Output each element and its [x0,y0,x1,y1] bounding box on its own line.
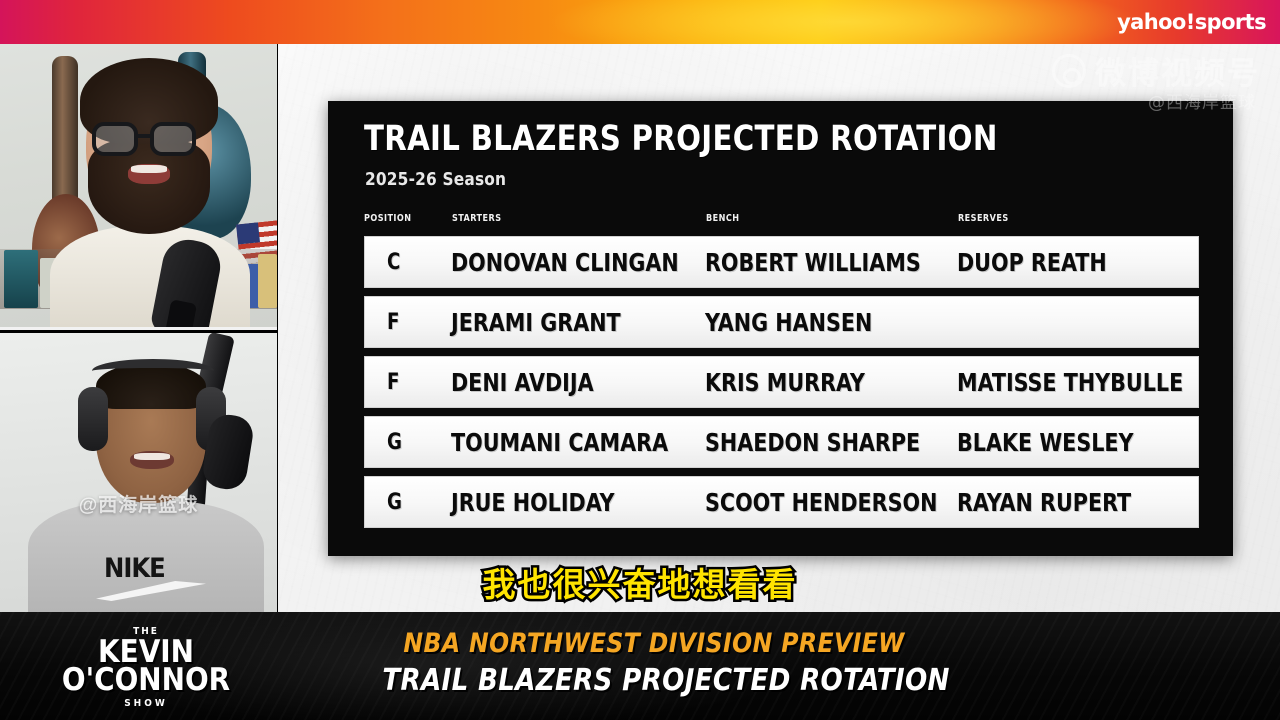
table-row: F DENI AVDIJA KRIS MURRAY MATISSE THYBUL… [364,356,1199,408]
weibo-account-handle: @西海岸篮球 [1148,88,1256,113]
season-subtitle: 2025-26 Season [365,169,506,190]
cell-bench: KRIS MURRAY [705,368,865,397]
cell-starter: JERAMI GRANT [451,308,621,337]
cell-position: G [387,430,402,455]
weibo-watermark: 微博视频号 [1052,48,1260,93]
cell-position: F [387,370,399,395]
cell-position: G [387,490,402,515]
banner-text-block: NBA NORTHWEST DIVISION PREVIEW TRAIL BLA… [374,628,934,698]
cell-starter: DENI AVDIJA [451,368,594,397]
cell-bench: SHAEDON SHARPE [705,428,920,457]
table-row: C DONOVAN CLINGAN ROBERT WILLIAMS DUOP R… [364,236,1199,288]
host-shirt [50,226,250,330]
yahoo-sports-logo: yahoo!sports [1117,10,1266,34]
banner-subhead: TRAIL BLAZERS PROJECTED ROTATION [382,663,925,698]
banner-headline: NBA NORTHWEST DIVISION PREVIEW [382,628,925,659]
host-mouth [128,164,170,184]
broadcast-frame: yahoo!sports TRAIL BLAZERS PROJECTED ROT… [0,0,1280,720]
eyeglasses-right-lens-icon [150,122,196,156]
table-row: F JERAMI GRANT YANG HANSEN [364,296,1199,348]
webcam-watermark: @西海岸篮球 [79,490,199,517]
rotation-graphic-panel: TRAIL BLAZERS PROJECTED ROTATION 2025-26… [328,101,1233,556]
column-header-position: POSITION [364,213,411,224]
cell-starter: JRUE HOLIDAY [451,488,615,517]
cell-starter: TOUMANI CAMARA [451,428,668,457]
eyeglasses-left-lens-icon [92,122,138,156]
cell-reserve: DUOP REATH [957,248,1107,277]
eyeglasses-bridge-icon [138,134,152,138]
cell-reserve: MATISSE THYBULLE [957,368,1183,397]
shelf-object [4,250,38,308]
caption-subtitle: 我也很兴奋地想看看 [0,558,1280,606]
cell-bench: ROBERT WILLIAMS [705,248,921,277]
show-logo-show: SHOW [124,698,168,709]
cell-position: C [387,250,400,275]
cell-bench: SCOOT HENDERSON [705,488,937,517]
show-logo-last: O'CONNOR [62,666,230,695]
lower-third-banner: THE KEVIN O'CONNOR SHOW NBA NORTHWEST DI… [0,612,1280,720]
column-header-starters: STARTERS [452,213,501,224]
cell-reserve: RAYAN RUPERT [957,488,1131,517]
show-logo: THE KEVIN O'CONNOR SHOW [56,620,236,716]
cell-bench: YANG HANSEN [705,308,872,337]
weibo-watermark-label: 微博视频号 [1095,48,1260,93]
table-row: G TOUMANI CAMARA SHAEDON SHARPE BLAKE WE… [364,416,1199,468]
cell-reserve: BLAKE WESLEY [957,428,1134,457]
rotation-table: C DONOVAN CLINGAN ROBERT WILLIAMS DUOP R… [364,236,1199,536]
headphone-left-cup-icon [78,387,108,451]
top-gradient-bar: yahoo!sports [0,0,1280,44]
webcam-host-top [0,44,277,330]
page-title: TRAIL BLAZERS PROJECTED ROTATION [364,119,998,159]
headphone-band-icon [92,359,214,383]
cell-starter: DONOVAN CLINGAN [451,248,679,277]
guest-mouth [130,451,174,469]
cell-position: F [387,310,399,335]
webcam-top-video [0,44,277,327]
table-row: G JRUE HOLIDAY SCOOT HENDERSON RAYAN RUP… [364,476,1199,528]
weibo-eye-icon [1052,54,1086,88]
column-header-bench: BENCH [706,213,739,224]
column-header-reserves: RESERVES [958,213,1009,224]
shelf-object [258,254,277,308]
